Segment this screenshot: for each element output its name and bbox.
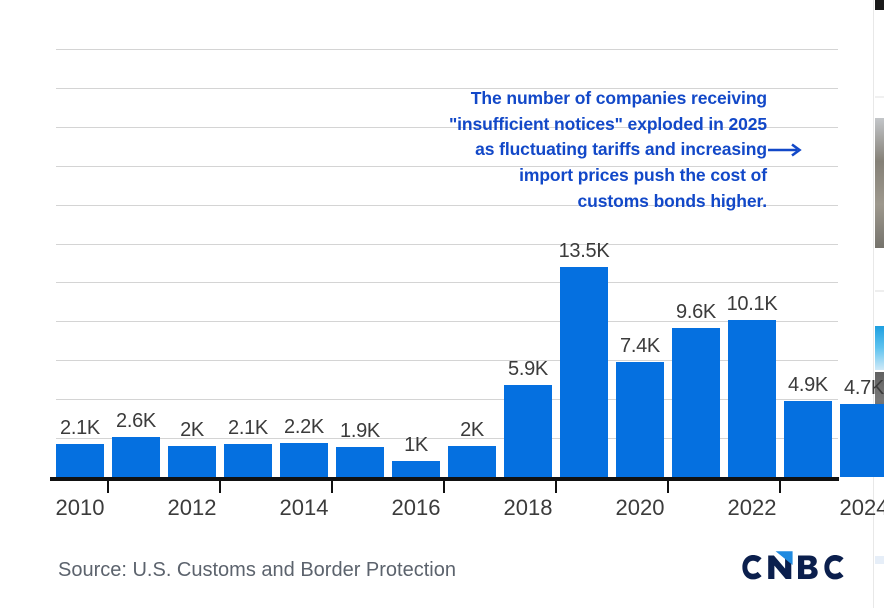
bar-2013[interactable] bbox=[224, 444, 272, 477]
bar-value-label: 2K bbox=[432, 419, 512, 442]
x-axis-tick bbox=[443, 481, 445, 493]
bar-slot: 2.2K bbox=[280, 10, 328, 477]
cnbc-logo bbox=[742, 549, 850, 587]
sliver-block-1 bbox=[875, 0, 884, 10]
bar-slot: 10.1K bbox=[728, 10, 776, 477]
bar-slot: 2.1K bbox=[224, 10, 272, 477]
bar-2010[interactable] bbox=[56, 444, 104, 477]
bar-slot: 1.9K bbox=[336, 10, 384, 477]
bar-2022[interactable] bbox=[728, 320, 776, 477]
annotation-line-5: customs bonds higher. bbox=[382, 189, 767, 215]
bar-2011[interactable] bbox=[112, 437, 160, 477]
x-axis-tick bbox=[779, 481, 781, 493]
annotation-line-4: import prices push the cost of bbox=[382, 163, 767, 189]
x-axis-label: 2016 bbox=[371, 495, 461, 521]
annotation-callout: The number of companies receiving "insuf… bbox=[382, 86, 767, 215]
sliver-block-7 bbox=[875, 556, 884, 564]
bar-2019[interactable] bbox=[560, 267, 608, 477]
x-axis-label: 2018 bbox=[483, 495, 573, 521]
bar-slot: 2.1K bbox=[56, 10, 104, 477]
annotation-line-3: as fluctuating tariffs and increasing bbox=[382, 137, 767, 163]
bar-slot: 7.4K bbox=[616, 10, 664, 477]
x-axis-tick bbox=[555, 481, 557, 493]
bar-2016[interactable] bbox=[392, 461, 440, 477]
x-axis-label: 2014 bbox=[259, 495, 349, 521]
bar-value-label: 13.5K bbox=[544, 240, 624, 263]
x-axis-label: 2020 bbox=[595, 495, 685, 521]
bar-2012[interactable] bbox=[168, 446, 216, 477]
x-axis: 20102012201420162018202020222024 bbox=[56, 481, 838, 527]
x-axis-label: 2022 bbox=[707, 495, 797, 521]
bar-2014[interactable] bbox=[280, 443, 328, 477]
bar-2017[interactable] bbox=[448, 446, 496, 477]
x-axis-label: 2012 bbox=[147, 495, 237, 521]
bar-series: 2.1K2.6K2K2.1K2.2K1.9K1K2K5.9K13.5K7.4K9… bbox=[56, 10, 838, 477]
annotation-line-2: "insufficient notices" exploded in 2025 bbox=[382, 112, 767, 138]
annotation-arrow-icon bbox=[768, 143, 802, 157]
bar-value-label: 4.7K bbox=[824, 377, 884, 400]
source-note: Source: U.S. Customs and Border Protecti… bbox=[58, 559, 456, 582]
bar-2024[interactable] bbox=[840, 404, 884, 477]
bar-value-label: 5.9K bbox=[488, 358, 568, 381]
bar-slot: 2K bbox=[168, 10, 216, 477]
x-axis-label: 2024 bbox=[819, 495, 884, 521]
bar-slot: 2.6K bbox=[112, 10, 160, 477]
bar-slot: 9.6K bbox=[672, 10, 720, 477]
bar-value-label: 7.4K bbox=[600, 335, 680, 358]
bar-slot: 1K bbox=[392, 10, 440, 477]
x-axis-tick bbox=[107, 481, 109, 493]
bar-2020[interactable] bbox=[616, 362, 664, 477]
x-axis-tick bbox=[219, 481, 221, 493]
chart-screenshot: 2.1K2.6K2K2.1K2.2K1.9K1K2K5.9K13.5K7.4K9… bbox=[0, 0, 884, 608]
bar-slot: 13.5K bbox=[560, 10, 608, 477]
x-axis-tick bbox=[331, 481, 333, 493]
bar-value-label: 27.5K bbox=[880, 22, 884, 45]
bar-slot: 2K bbox=[448, 10, 496, 477]
x-axis-label: 2010 bbox=[35, 495, 125, 521]
bar-2021[interactable] bbox=[672, 328, 720, 477]
bar-slot: 4.9K bbox=[784, 10, 832, 477]
x-axis-tick bbox=[667, 481, 669, 493]
bar-slot: 4.7K bbox=[840, 10, 884, 477]
annotation-line-1: The number of companies receiving bbox=[382, 86, 767, 112]
bar-2023[interactable] bbox=[784, 401, 832, 477]
bar-2018[interactable] bbox=[504, 385, 552, 477]
bar-value-label: 10.1K bbox=[712, 293, 792, 316]
